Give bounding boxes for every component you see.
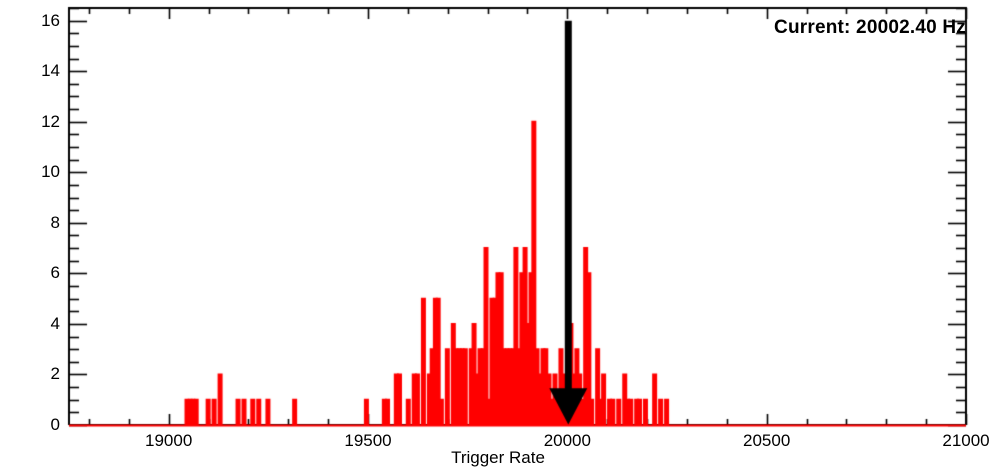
x-tick-label: 19000 bbox=[145, 431, 192, 451]
current-rate-readout: Current: 20002.40 Hz bbox=[774, 17, 966, 39]
x-tick-label: 21000 bbox=[942, 431, 989, 451]
y-tick-label: 4 bbox=[51, 314, 60, 334]
x-tick-label: 20000 bbox=[544, 431, 591, 451]
trigger-rate-histogram-canvas bbox=[0, 0, 996, 472]
y-tick-label: 10 bbox=[41, 162, 60, 182]
y-tick-label: 2 bbox=[51, 364, 60, 384]
y-tick-label: 14 bbox=[41, 61, 60, 81]
y-tick-label: 8 bbox=[51, 213, 60, 233]
y-tick-label: 6 bbox=[51, 263, 60, 283]
x-tick-label: 19500 bbox=[344, 431, 391, 451]
histogram-plot-root: Current: 20002.40 Hz Trigger Rate 190001… bbox=[0, 0, 996, 472]
y-tick-label: 0 bbox=[51, 415, 60, 435]
x-tick-label: 20500 bbox=[743, 431, 790, 451]
y-tick-label: 12 bbox=[41, 112, 60, 132]
x-axis-title: Trigger Rate bbox=[0, 448, 996, 468]
y-tick-label: 16 bbox=[41, 11, 60, 31]
